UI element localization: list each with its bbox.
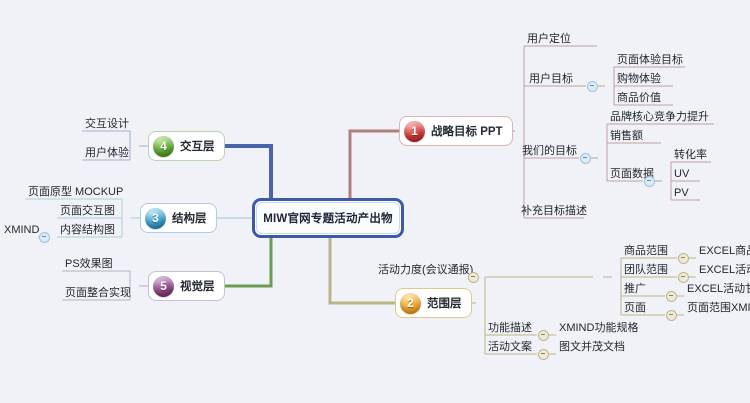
toggle-user-goals[interactable] — [587, 81, 598, 92]
leaf-xmind-function-spec[interactable]: XMIND功能规格 — [557, 321, 640, 335]
toggle-product-scope[interactable] — [678, 253, 689, 264]
leaf-brand-competitiveness[interactable]: 品牌核心竞争力提升 — [608, 110, 711, 124]
branch-node-interaction[interactable]: 4 交互层 — [148, 131, 225, 161]
leaf-our-goals[interactable]: 我们的目标 — [520, 144, 579, 158]
toggle-team-scope[interactable] — [678, 272, 689, 283]
branch-label-visual: 视觉层 — [180, 278, 215, 294]
badge-5: 5 — [153, 276, 174, 297]
leaf-excel-gantt-chart-promotion[interactable]: EXCEL活动甘特图 — [685, 282, 750, 296]
branch-label-strategy: 战略目标 PPT — [431, 123, 503, 139]
leaf-user-goals[interactable]: 用户目标 — [527, 72, 575, 86]
leaf-product-value[interactable]: 商品价值 — [615, 91, 663, 105]
toggle-content-structure-diagram[interactable] — [39, 232, 50, 243]
badge-2: 2 — [400, 293, 421, 314]
leaf-xmind[interactable]: XMIND — [2, 223, 41, 237]
leaf-product-scope[interactable]: 商品范围 — [622, 244, 670, 258]
toggle-promotion[interactable] — [666, 291, 677, 302]
leaf-content-structure-diagram[interactable]: 内容结构图 — [58, 223, 117, 237]
toggle-page-data[interactable] — [644, 176, 655, 187]
leaf-excel-gantt-chart-team[interactable]: EXCEL活动甘特图 — [697, 263, 750, 277]
badge-3: 3 — [145, 208, 166, 229]
leaf-rich-text-document[interactable]: 图文并茂文档 — [557, 340, 627, 354]
leaf-page-scope-xmind[interactable]: 页面范围XMIND — [685, 301, 750, 315]
leaf-campaign-intensity[interactable]: 活动力度(会议通报) — [376, 263, 475, 277]
leaf-pv[interactable]: PV — [672, 186, 691, 200]
leaf-shopping-experience[interactable]: 购物体验 — [615, 72, 663, 86]
leaf-sales-revenue[interactable]: 销售额 — [608, 129, 645, 143]
toggle-campaign-copy[interactable] — [538, 349, 549, 360]
branch-node-scope[interactable]: 2 范围层 — [395, 288, 472, 318]
leaf-excel-product-structure-table[interactable]: EXCEL商品结构表 — [697, 244, 750, 258]
leaf-campaign-copy[interactable]: 活动文案 — [486, 340, 534, 354]
branch-label-interaction: 交互层 — [180, 138, 215, 154]
leaf-conversion-rate[interactable]: 转化率 — [672, 148, 709, 162]
badge-1: 1 — [404, 121, 425, 142]
branch-node-visual[interactable]: 5 视觉层 — [148, 271, 225, 301]
leaf-page-integration[interactable]: 页面整合实现 — [63, 286, 133, 300]
mindmap-canvas: MIW官网专题活动产出物 1 战略目标 PPT 2 范围层 3 结构层 4 交互… — [0, 0, 750, 403]
leaf-user-experience[interactable]: 用户体验 — [83, 146, 131, 160]
branch-label-structure: 结构层 — [172, 210, 207, 226]
leaf-promotion[interactable]: 推广 — [622, 282, 648, 296]
leaf-team-scope[interactable]: 团队范围 — [622, 263, 670, 277]
leaf-page-interaction-diagram[interactable]: 页面交互图 — [58, 204, 117, 218]
toggle-our-goals[interactable] — [580, 153, 591, 164]
leaf-page-prototype-mockup[interactable]: 页面原型 MOCKUP — [26, 185, 125, 199]
toggle-function-description[interactable] — [538, 330, 549, 341]
leaf-page[interactable]: 页面 — [622, 301, 648, 315]
root-node[interactable]: MIW官网专题活动产出物 — [252, 198, 404, 238]
leaf-supplementary-goal-description[interactable]: 补充目标描述 — [519, 204, 589, 218]
toggle-page[interactable] — [666, 310, 677, 321]
branch-label-scope: 范围层 — [427, 295, 462, 311]
branch-node-strategy[interactable]: 1 战略目标 PPT — [399, 116, 513, 146]
leaf-ps-mockup[interactable]: PS效果图 — [63, 257, 115, 271]
leaf-interaction-design[interactable]: 交互设计 — [83, 117, 131, 131]
root-node-label: MIW官网专题活动产出物 — [256, 202, 400, 234]
leaf-uv[interactable]: UV — [672, 167, 691, 181]
leaf-page-experience-goal[interactable]: 页面体验目标 — [615, 53, 685, 67]
branch-node-structure[interactable]: 3 结构层 — [140, 203, 217, 233]
badge-4: 4 — [153, 136, 174, 157]
leaf-user-positioning[interactable]: 用户定位 — [525, 32, 573, 46]
toggle-campaign-intensity[interactable] — [468, 272, 479, 283]
leaf-function-description[interactable]: 功能描述 — [486, 321, 534, 335]
